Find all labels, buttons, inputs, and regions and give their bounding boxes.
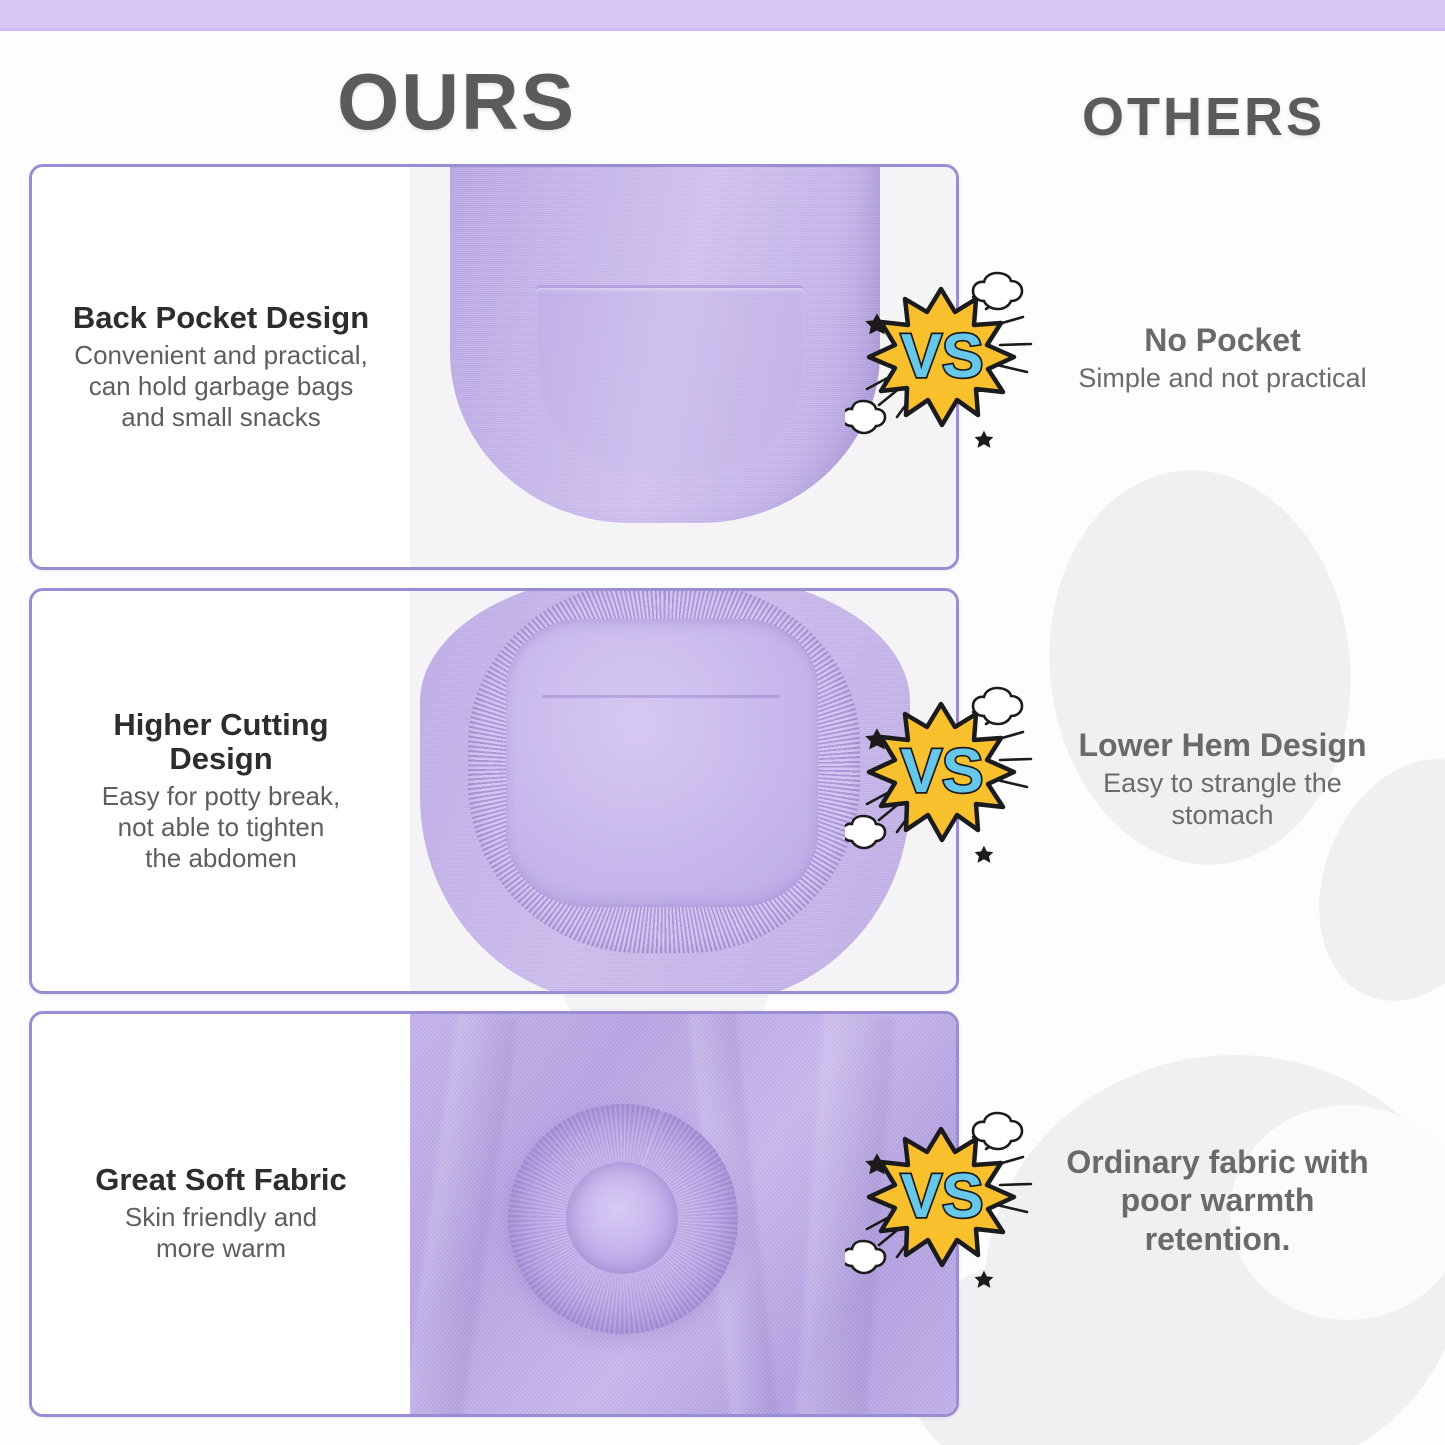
hem-seam-line — [542, 695, 780, 698]
ours-description-row-1: Convenient and practical, can hold garba… — [74, 340, 367, 434]
hem-garment-image — [420, 591, 910, 991]
others-text-block-row-1: No Pocket Simple and not practical — [1025, 323, 1420, 394]
fabric-fold-1 — [410, 1014, 518, 1414]
others-text-block-row-2: Lower Hem Design Easy to strangle the st… — [1025, 728, 1420, 832]
comparison-card-row-2: Higher Cutting Design Easy for potty bre… — [29, 588, 959, 994]
ours-photo-row-3 — [410, 1014, 956, 1414]
infographic-canvas: OURS OTHERS Back Pocket Design Convenien… — [0, 0, 1445, 1445]
ours-photo-row-2 — [410, 591, 956, 991]
garment-body-image — [450, 167, 880, 523]
heading-others: OTHERS — [1082, 86, 1325, 148]
ours-text-block-row-2: Higher Cutting Design Easy for potty bre… — [32, 591, 410, 991]
ours-text-block-row-1: Back Pocket Design Convenient and practi… — [32, 167, 410, 567]
comparison-card-row-1: Back Pocket Design Convenient and practi… — [29, 164, 959, 570]
others-text-block-row-3: Ordinary fabric with poor warmth retenti… — [1020, 1143, 1415, 1261]
ours-title-row-2: Higher Cutting Design — [113, 708, 328, 777]
ours-title-row-1: Back Pocket Design — [73, 301, 369, 336]
ours-description-row-3: Skin friendly and more warm — [125, 1202, 317, 1264]
fabric-swirl-detail — [508, 1104, 738, 1334]
ours-text-block-row-3: Great Soft Fabric Skin friendly and more… — [32, 1014, 410, 1414]
others-title-row-3: Ordinary fabric with poor warmth retenti… — [1020, 1143, 1415, 1258]
ours-description-row-2: Easy for potty break, not able to tighte… — [102, 781, 340, 875]
ours-photo-row-1 — [410, 167, 956, 567]
comparison-card-row-3: Great Soft Fabric Skin friendly and more… — [29, 1011, 959, 1417]
others-description-row-1: Simple and not practical — [1025, 362, 1420, 394]
soft-fabric-image — [410, 1014, 956, 1414]
others-title-row-2: Lower Hem Design — [1025, 728, 1420, 764]
garment-pocket-detail — [536, 285, 804, 475]
top-accent-bar — [0, 0, 1445, 31]
others-title-row-1: No Pocket — [1025, 323, 1420, 359]
others-description-row-2: Easy to strangle the stomach — [1025, 767, 1420, 832]
heading-ours: OURS — [337, 56, 576, 148]
fabric-fold-3 — [796, 1014, 894, 1414]
ours-title-row-3: Great Soft Fabric — [95, 1163, 347, 1198]
hem-inner-lining — [506, 619, 818, 907]
